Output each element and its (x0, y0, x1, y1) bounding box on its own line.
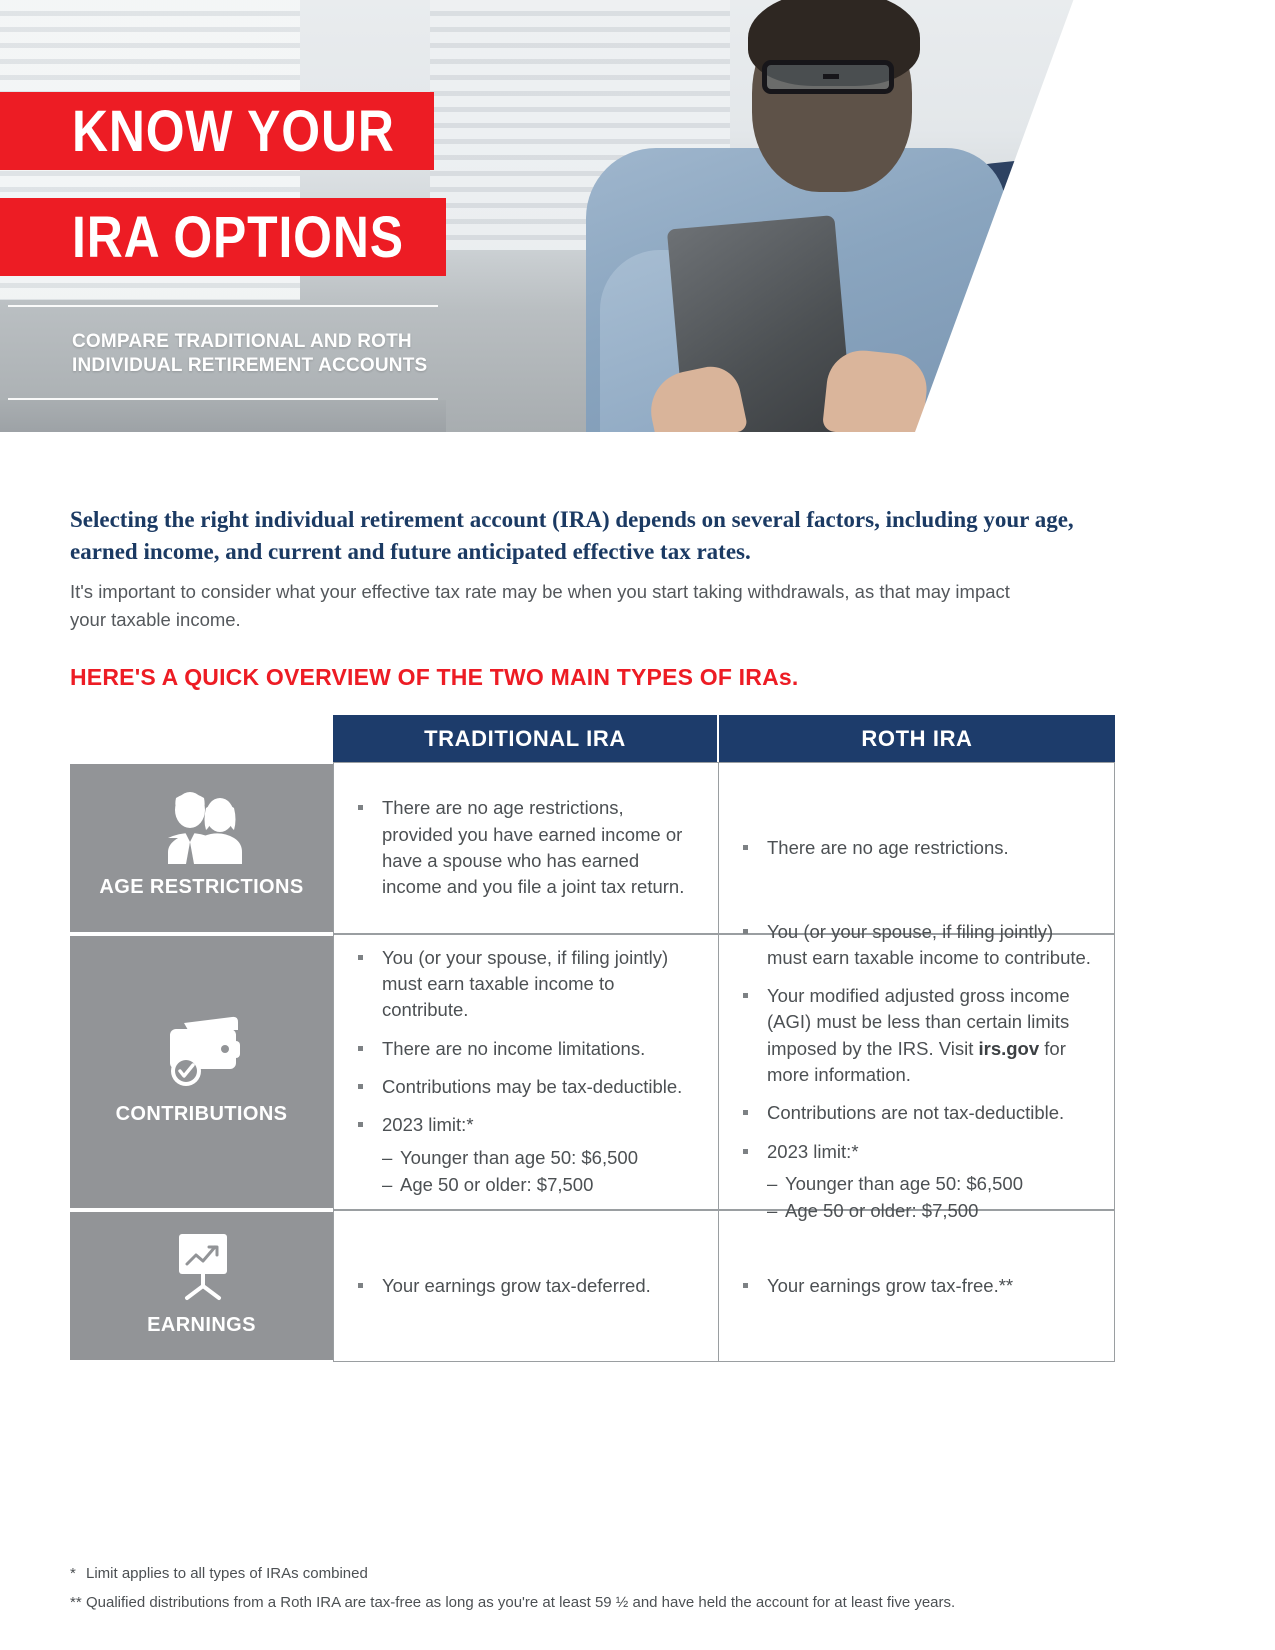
footnote-single-asterisk: *Limit applies to all types of IRAs comb… (70, 1560, 1170, 1589)
list-item: There are no age restrictions, provided … (356, 795, 696, 900)
list-item: 2023 limit:* Younger than age 50: $6,500… (741, 1139, 1092, 1225)
footnote-marker: * (70, 1560, 86, 1589)
category-label: EARNINGS (147, 1314, 256, 1337)
column-header-roth: ROTH IRA (719, 715, 1115, 762)
cell-roth-contributions: You (or your spouse, if filing jointly) … (719, 934, 1115, 1210)
hero-title-line1-text: KNOW YOUR (72, 98, 395, 165)
footnote-text: Qualified distributions from a Roth IRA … (86, 1594, 955, 1611)
table-row: EARNINGS Your earnings grow tax-deferred… (70, 1210, 1115, 1362)
hero-title-line1: KNOW YOUR (0, 92, 434, 170)
list-item: Your modified adjusted gross income (AGI… (741, 983, 1092, 1088)
comparison-table: TRADITIONAL IRA ROTH IRA (70, 715, 1115, 1362)
cell-traditional-age: There are no age restrictions, provided … (333, 762, 719, 934)
hero-subtitle: COMPARE TRADITIONAL AND ROTH INDIVIDUAL … (0, 300, 446, 408)
footnotes: *Limit applies to all types of IRAs comb… (70, 1560, 1170, 1617)
hero-banner: KNOW YOUR IRA OPTIONS COMPARE TRADITIONA… (0, 0, 1275, 432)
column-header-traditional: TRADITIONAL IRA (333, 715, 719, 762)
hero-title-line2: IRA OPTIONS (0, 198, 446, 276)
footnote-marker: ** (70, 1589, 86, 1618)
category-cell-earnings: EARNINGS (70, 1210, 333, 1362)
hero-subtitle-line1: COMPARE TRADITIONAL AND ROTH (72, 330, 446, 354)
irs-gov-reference: irs.gov (978, 1038, 1039, 1059)
section-heading: HERE'S A QUICK OVERVIEW OF THE TWO MAIN … (70, 664, 798, 691)
list-item: Your earnings grow tax-deferred. (356, 1273, 696, 1299)
wallet-check-icon (154, 1013, 250, 1091)
category-label: AGE RESTRICTIONS (99, 876, 303, 899)
list-item: You (or your spouse, if filing jointly) … (741, 919, 1092, 972)
list-item: Contributions may be tax-deductible. (356, 1074, 696, 1100)
category-cell-age-restrictions: AGE RESTRICTIONS (70, 762, 333, 934)
hero-title-line2-text: IRA OPTIONS (72, 204, 404, 271)
sub-list-item: Younger than age 50: $6,500 (382, 1145, 696, 1171)
list-item: There are no age restrictions. (741, 835, 1092, 861)
cell-traditional-contributions: You (or your spouse, if filing jointly) … (333, 934, 719, 1210)
list-item: 2023 limit:* Younger than age 50: $6,500… (356, 1112, 696, 1198)
cell-roth-earnings: Your earnings grow tax-free.** (719, 1210, 1115, 1362)
table-row: CONTRIBUTIONS You (or your spouse, if fi… (70, 934, 1115, 1210)
couple-icon (154, 792, 250, 864)
cell-traditional-earnings: Your earnings grow tax-deferred. (333, 1210, 719, 1362)
list-item: You (or your spouse, if filing jointly) … (356, 945, 696, 1024)
eyeglasses-icon (762, 60, 894, 94)
list-item: Contributions are not tax-deductible. (741, 1100, 1092, 1126)
list-item: There are no income limitations. (356, 1036, 696, 1062)
list-item-label: 2023 limit:* (382, 1114, 474, 1135)
growth-chart-icon (159, 1230, 245, 1302)
sub-paragraph: It's important to consider what your eff… (70, 578, 1045, 634)
table-row: AGE RESTRICTIONS There are no age restri… (70, 762, 1115, 934)
sub-list-item: Younger than age 50: $6,500 (767, 1171, 1092, 1197)
list-item-label: 2023 limit:* (767, 1141, 859, 1162)
table-header-row: TRADITIONAL IRA ROTH IRA (333, 715, 1115, 762)
category-cell-contributions: CONTRIBUTIONS (70, 934, 333, 1210)
sub-list-item: Age 50 or older: $7,500 (767, 1198, 1092, 1224)
list-item: Your earnings grow tax-free.** (741, 1273, 1092, 1299)
hero-subtitle-line2: INDIVIDUAL RETIREMENT ACCOUNTS (72, 354, 446, 378)
lead-paragraph: Selecting the right individual retiremen… (70, 504, 1080, 567)
cell-roth-age: There are no age restrictions. (719, 762, 1115, 934)
footnote-text: Limit applies to all types of IRAs combi… (86, 1565, 368, 1582)
footnote-double-asterisk: **Qualified distributions from a Roth IR… (70, 1589, 1170, 1618)
sub-list-item: Age 50 or older: $7,500 (382, 1172, 696, 1198)
category-label: CONTRIBUTIONS (116, 1103, 288, 1126)
